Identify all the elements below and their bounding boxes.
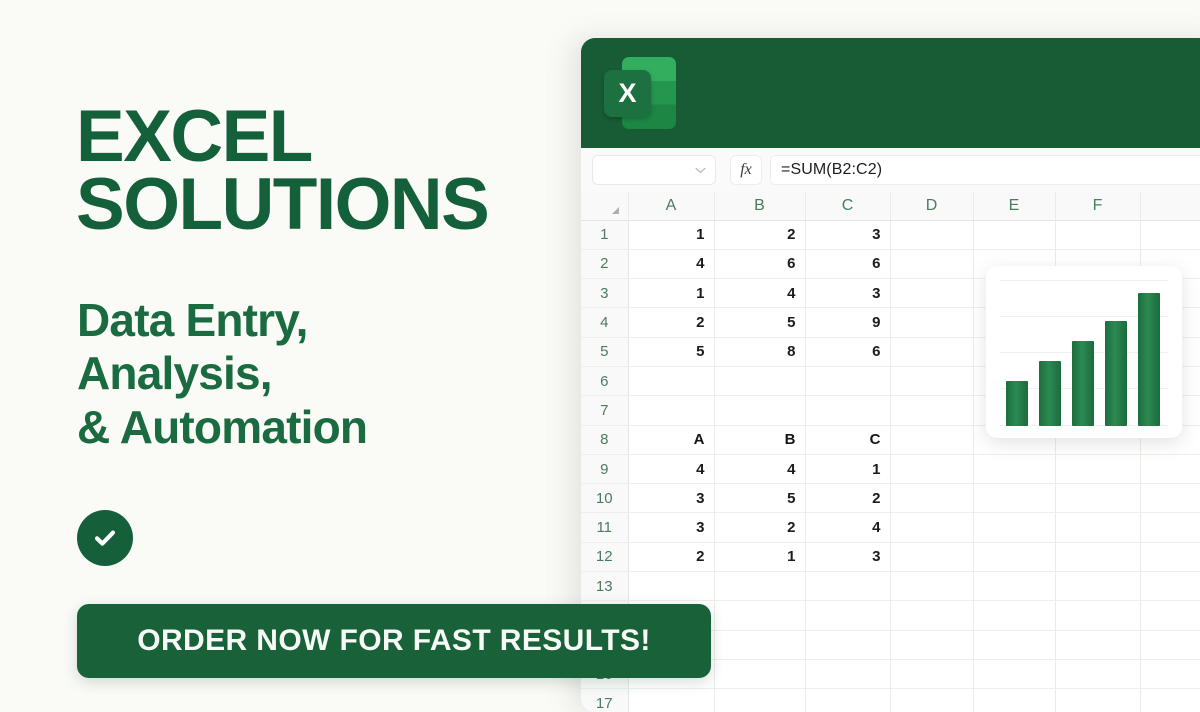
grid-cell[interactable] [890,630,973,659]
grid-cell[interactable]: B [714,425,805,454]
grid-cell[interactable]: 2 [628,542,714,571]
grid-cell[interactable] [714,601,805,630]
grid-cell[interactable] [805,601,890,630]
grid-cell[interactable] [1055,630,1140,659]
grid-cell[interactable] [1140,542,1200,571]
grid-cell[interactable] [890,249,973,278]
grid-cell[interactable]: 3 [628,513,714,542]
grid-cell[interactable] [890,220,973,249]
column-header-e[interactable]: E [973,192,1055,220]
bar-chart-card[interactable] [986,266,1182,438]
table-row: 13 [581,572,1200,601]
chart-bar [1006,381,1028,426]
grid-cell[interactable] [890,689,973,712]
grid-cell[interactable] [1055,454,1140,483]
grid-cell[interactable] [1055,601,1140,630]
grid-cell[interactable] [1055,542,1140,571]
subheadline: Data Entry, Analysis, & Automation [77,294,367,454]
fx-icon[interactable]: fx [730,155,762,185]
subheadline-line-1: Data Entry, [77,294,367,347]
table-row: 11324 [581,513,1200,542]
column-header-d[interactable]: D [890,192,973,220]
grid-cell[interactable] [805,689,890,712]
grid-cell[interactable] [1140,630,1200,659]
grid-cell[interactable]: 4 [714,279,805,308]
grid-cell[interactable]: C [805,425,890,454]
grid-cell[interactable] [628,689,714,712]
grid-cell[interactable] [1140,513,1200,542]
grid-cell[interactable]: 3 [805,220,890,249]
grid-cell[interactable] [1140,601,1200,630]
table-row: 10352 [581,484,1200,513]
grid-cell[interactable]: 1 [628,220,714,249]
grid-cell[interactable] [1140,220,1200,249]
corner-triangle-icon [612,207,619,214]
bar-chart-plot [1000,280,1168,426]
grid-cell[interactable] [714,630,805,659]
grid-cell[interactable] [973,220,1055,249]
grid-cell[interactable]: 9 [805,308,890,337]
grid-cell[interactable] [973,601,1055,630]
grid-cell[interactable] [890,366,973,395]
grid-cell[interactable]: 4 [628,249,714,278]
grid-cell[interactable]: 1 [714,542,805,571]
grid-cell[interactable]: 5 [714,484,805,513]
headline-line-2: SOLUTIONS [76,171,488,239]
name-box[interactable] [592,155,716,185]
grid-cell[interactable] [1055,484,1140,513]
grid-cell[interactable]: 8 [714,337,805,366]
grid-cell[interactable]: 6 [805,249,890,278]
table-row: 1123 [581,220,1200,249]
page-title: EXCEL SOLUTIONS [76,103,488,239]
grid-cell[interactable] [890,513,973,542]
grid-cell[interactable] [714,396,805,425]
grid-cell[interactable]: A [628,425,714,454]
formula-bar: fx =SUM(B2:C2) [581,148,1200,192]
grid-cell[interactable]: 3 [628,484,714,513]
excel-logo-letter: X [604,70,651,117]
subheadline-line-3: & Automation [77,401,367,454]
grid-cell[interactable] [805,396,890,425]
grid-cell[interactable] [628,572,714,601]
grid-cell[interactable]: 2 [628,308,714,337]
grid-cell[interactable] [890,454,973,483]
subheadline-line-2: Analysis, [77,347,367,400]
grid-cell[interactable] [890,308,973,337]
grid-cell[interactable]: 2 [714,220,805,249]
chart-bars [1006,280,1166,426]
grid-cell[interactable] [1055,513,1140,542]
grid-cell[interactable]: 6 [805,337,890,366]
table-row: 9441 [581,454,1200,483]
grid-cell[interactable] [973,484,1055,513]
column-header-f[interactable]: F [1055,192,1140,220]
grid-cell[interactable]: 4 [628,454,714,483]
column-header-a[interactable]: A [628,192,714,220]
grid-cell[interactable]: 4 [805,513,890,542]
column-header-g[interactable] [1140,192,1200,220]
grid-cell[interactable] [1140,572,1200,601]
grid-cell[interactable] [890,572,973,601]
grid-cell[interactable] [1140,689,1200,712]
grid-cell[interactable] [1140,659,1200,688]
column-header-b[interactable]: B [714,192,805,220]
grid-cell[interactable] [973,572,1055,601]
grid-cell[interactable] [973,454,1055,483]
grid-cell[interactable] [973,513,1055,542]
chart-bar [1138,293,1160,426]
grid-cell[interactable] [890,601,973,630]
grid-cell[interactable] [890,279,973,308]
grid-cell[interactable] [714,659,805,688]
grid-cell[interactable] [973,630,1055,659]
grid-cell[interactable] [890,484,973,513]
grid-cell[interactable]: 6 [714,249,805,278]
grid-cell[interactable] [890,396,973,425]
grid-cell[interactable] [1140,454,1200,483]
grid-cell[interactable] [1055,689,1140,712]
grid-cell[interactable] [805,572,890,601]
grid-cell[interactable] [890,659,973,688]
grid-cell[interactable]: 1 [628,279,714,308]
grid-cell[interactable]: 5 [628,337,714,366]
excel-titlebar: X [581,38,1200,148]
chevron-down-icon[interactable] [695,167,706,174]
table-row: 12213 [581,542,1200,571]
grid-cell[interactable]: 2 [805,484,890,513]
grid-cell[interactable] [714,572,805,601]
formula-input[interactable]: =SUM(B2:C2) [770,155,1200,185]
order-now-button[interactable]: Order Now for Fast Results! [77,604,711,678]
grid-cell[interactable]: 4 [714,454,805,483]
grid-cell[interactable]: 2 [714,513,805,542]
grid-cell[interactable] [890,337,973,366]
grid-cell[interactable]: 5 [714,308,805,337]
grid-cell[interactable] [628,396,714,425]
grid-cell[interactable] [1140,484,1200,513]
table-row: 17 [581,689,1200,712]
grid-cell[interactable] [805,366,890,395]
grid-cell[interactable]: 3 [805,542,890,571]
column-header-c[interactable]: C [805,192,890,220]
grid-cell[interactable] [890,542,973,571]
chart-bar [1105,321,1127,426]
grid-cell[interactable] [973,659,1055,688]
grid-cell[interactable]: 3 [805,279,890,308]
grid-cell[interactable] [1055,220,1140,249]
grid-cell[interactable] [973,542,1055,571]
chart-bar [1039,361,1061,426]
grid-cell[interactable] [1055,572,1140,601]
grid-cell[interactable] [973,689,1055,712]
grid-cell[interactable] [805,630,890,659]
grid-cell[interactable] [890,425,973,454]
column-header-row: A B C D E F [581,192,1200,220]
grid-cell[interactable] [714,366,805,395]
grid-cell[interactable] [805,659,890,688]
excel-logo-icon: X [604,57,676,129]
grid-cell[interactable] [714,689,805,712]
grid-cell[interactable] [628,366,714,395]
chart-bar [1072,341,1094,426]
promo-panel: EXCEL SOLUTIONS Data Entry, Analysis, & … [0,0,600,712]
check-circle-icon [77,510,133,566]
grid-cell[interactable] [1055,659,1140,688]
grid-cell[interactable]: 1 [805,454,890,483]
